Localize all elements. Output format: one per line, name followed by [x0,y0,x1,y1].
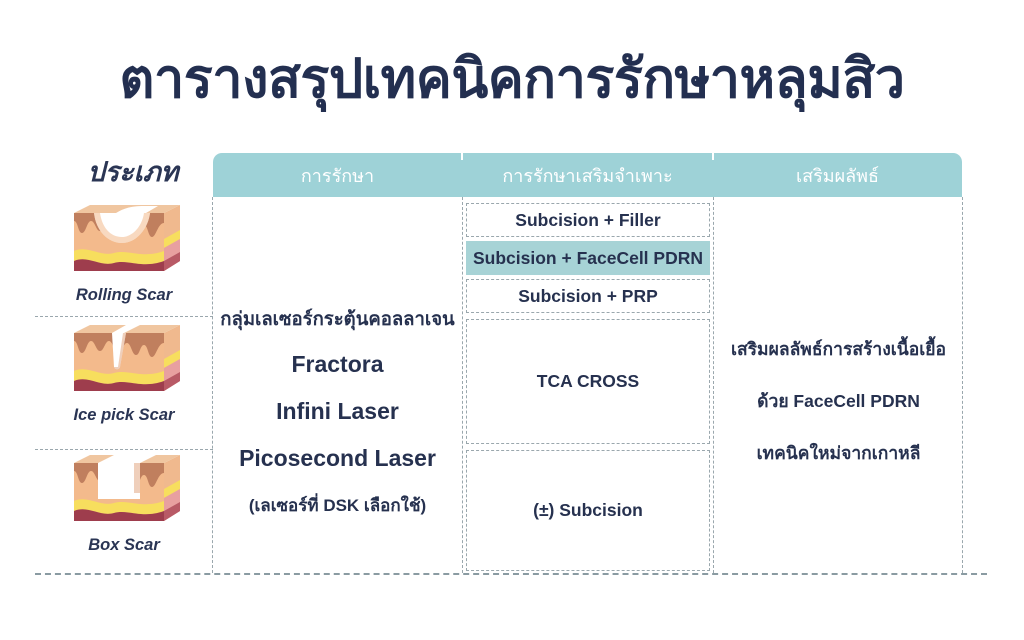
header-cell-treatment: การรักษา [213,153,462,197]
grid-divider-vertical-4 [962,197,963,573]
result-line-1: เสริมผลลัพธ์การสร้างเนื้อเยื้อ [716,335,961,363]
scar-row-rolling: Rolling Scar [35,199,213,313]
header-divider-notch [712,153,714,160]
rolling-scar-icon [60,199,188,283]
grid-divider-vertical-3 [713,197,714,573]
addon-box-subcision-filler: Subcision + Filler [466,203,710,237]
header-cell-result: เสริมผลัพธ์ [713,153,962,197]
type-column-heading: ประเภท [58,150,208,193]
scar-label-box: Box Scar [88,536,160,555]
addon-box-subcision-facecell-pdrn: Subcision + FaceCell PDRN [466,241,710,275]
ice-pick-scar-icon [60,319,188,403]
result-line-2: ด้วย FaceCell PDRN [716,387,961,415]
result-column-content: เสริมผลลัพธ์การสร้างเนื้อเยื้อ ด้วย Face… [716,335,961,467]
grid-divider-vertical-2 [462,197,463,573]
grid-divider-bottom [35,573,987,575]
header-cell-specific-addon: การรักษาเสริมจำเพาะ [462,153,713,197]
treatment-item-infini-laser: Infini Laser [216,398,459,425]
table-header-bar: การรักษา การรักษาเสริมจำเพาะ เสริมผลัพธ์ [213,153,962,197]
result-line-3: เทคนิคใหม่จากเกาหลี [716,439,961,467]
scar-type-column: Rolling Scar Ice pick Scar [35,197,213,573]
page-title: ตารางสรุปเทคนิคการรักษาหลุมสิว [0,48,1024,110]
treatment-item-fractora: Fractora [216,351,459,378]
header-label-specific-addon: การรักษาเสริมจำเพาะ [502,161,672,190]
addon-box-subcision-prp: Subcision + PRP [466,279,710,313]
box-scar-icon [60,449,188,533]
addon-box-tca-cross: TCA CROSS [466,319,710,444]
treatment-note: (เลเซอร์ที่ DSK เลือกใช้) [216,492,459,519]
treatment-heading-line: กลุ่มเลเซอร์กระตุ้นคอลลาเจน [216,305,459,334]
scar-label-icepick: Ice pick Scar [74,406,175,425]
scar-row-box: Box Scar [35,449,213,571]
header-divider-notch [461,153,463,160]
treatment-item-picosecond-laser: Picosecond Laser [216,445,459,472]
header-label-treatment: การรักษา [301,161,374,190]
scar-row-icepick: Ice pick Scar [35,319,213,446]
addon-box-subcision-optional: (±) Subcision [466,450,710,571]
treatment-column-content: กลุ่มเลเซอร์กระตุ้นคอลลาเจน Fractora Inf… [216,305,459,519]
header-label-result: เสริมผลัพธ์ [796,161,879,190]
scar-label-rolling: Rolling Scar [76,286,172,305]
